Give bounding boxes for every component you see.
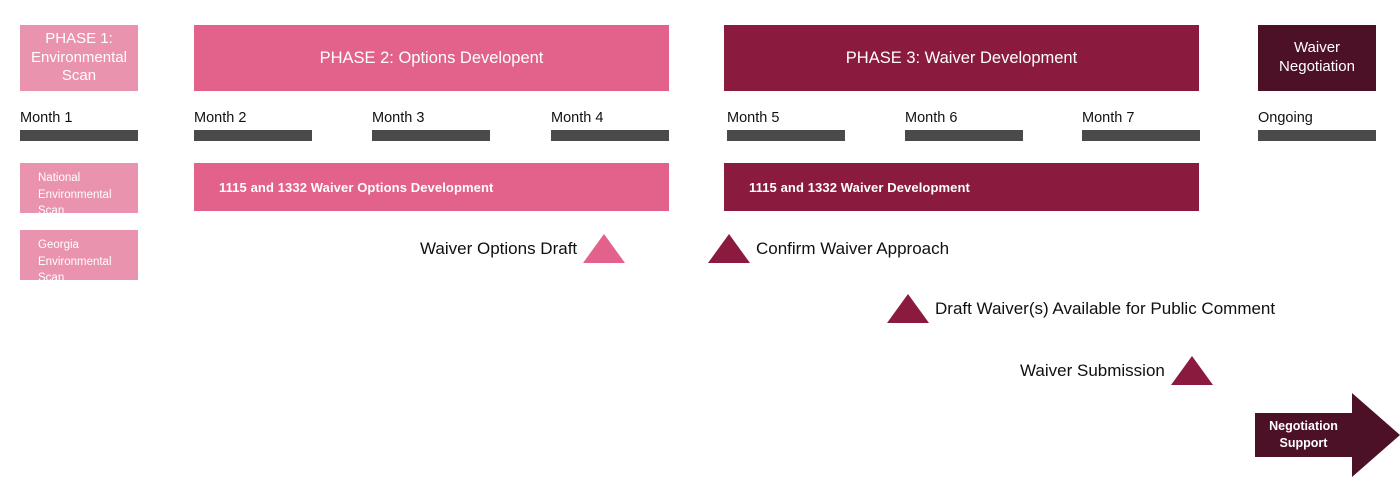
month-label-2: Month 2 xyxy=(194,110,246,126)
triangle-marker-icon xyxy=(583,234,625,263)
milestone-label: Draft Waiver(s) Available for Public Com… xyxy=(935,299,1275,319)
phase-banner-label: Waiver Negotiation xyxy=(1264,39,1370,77)
month-label-ongoing: Ongoing xyxy=(1258,110,1313,126)
sub-box-national-environmental-scan: National Environmental Scan xyxy=(20,163,138,213)
milestone-waiver-options-draft: Waiver Options Draft xyxy=(420,234,625,263)
sub-box-label: Georgia Environmental Scan xyxy=(38,239,112,284)
month-label-6: Month 6 xyxy=(905,110,957,126)
negotiation-support-arrow: Negotiation Support xyxy=(1255,393,1400,477)
phase-banner-phase-4: Waiver Negotiation xyxy=(1258,25,1376,91)
month-bar-2 xyxy=(194,130,312,141)
month-label-5: Month 5 xyxy=(727,110,779,126)
month-label-4: Month 4 xyxy=(551,110,603,126)
phase-banner-label: PHASE 3: Waiver Development xyxy=(846,48,1077,69)
triangle-marker-icon xyxy=(887,294,929,323)
month-bar-5 xyxy=(727,130,845,141)
month-label-3: Month 3 xyxy=(372,110,424,126)
task-bar-waiver-development: 1115 and 1332 Waiver Development xyxy=(724,163,1199,211)
arrow-label-line2: Support xyxy=(1269,435,1338,452)
milestone-label: Waiver Submission xyxy=(1020,361,1165,381)
phase-banner-label: PHASE 1: Environmental Scan xyxy=(26,30,132,86)
arrow-body: Negotiation Support xyxy=(1255,413,1352,457)
month-bar-7 xyxy=(1082,130,1200,141)
task-bar-waiver-options-development: 1115 and 1332 Waiver Options Development xyxy=(194,163,669,211)
timeline-diagram: PHASE 1: Environmental Scan PHASE 2: Opt… xyxy=(0,0,1400,495)
month-bar-6 xyxy=(905,130,1023,141)
phase-banner-phase-3: PHASE 3: Waiver Development xyxy=(724,25,1199,91)
month-bar-1 xyxy=(20,130,138,141)
task-bar-label: 1115 and 1332 Waiver Options Development xyxy=(219,180,493,195)
month-bar-ongoing xyxy=(1258,130,1376,141)
sub-box-label: National Environmental Scan xyxy=(38,172,112,217)
milestone-draft-waivers-public-comment: Draft Waiver(s) Available for Public Com… xyxy=(887,294,1275,323)
task-bar-label: 1115 and 1332 Waiver Development xyxy=(749,180,970,195)
month-bar-3 xyxy=(372,130,490,141)
month-label-1: Month 1 xyxy=(20,110,72,126)
phase-banner-phase-2: PHASE 2: Options Developent xyxy=(194,25,669,91)
triangle-marker-icon xyxy=(708,234,750,263)
month-bar-4 xyxy=(551,130,669,141)
phase-banner-phase-1: PHASE 1: Environmental Scan xyxy=(20,25,138,91)
phase-banner-label: PHASE 2: Options Developent xyxy=(320,48,544,69)
milestone-label: Waiver Options Draft xyxy=(420,239,577,259)
arrow-label-line1: Negotiation xyxy=(1269,418,1338,435)
month-label-7: Month 7 xyxy=(1082,110,1134,126)
arrow-head-icon xyxy=(1352,393,1400,477)
milestone-waiver-submission: Waiver Submission xyxy=(1020,356,1213,385)
sub-box-georgia-environmental-scan: Georgia Environmental Scan xyxy=(20,230,138,280)
milestone-label: Confirm Waiver Approach xyxy=(756,239,949,259)
triangle-marker-icon xyxy=(1171,356,1213,385)
milestone-confirm-waiver-approach: Confirm Waiver Approach xyxy=(708,234,949,263)
